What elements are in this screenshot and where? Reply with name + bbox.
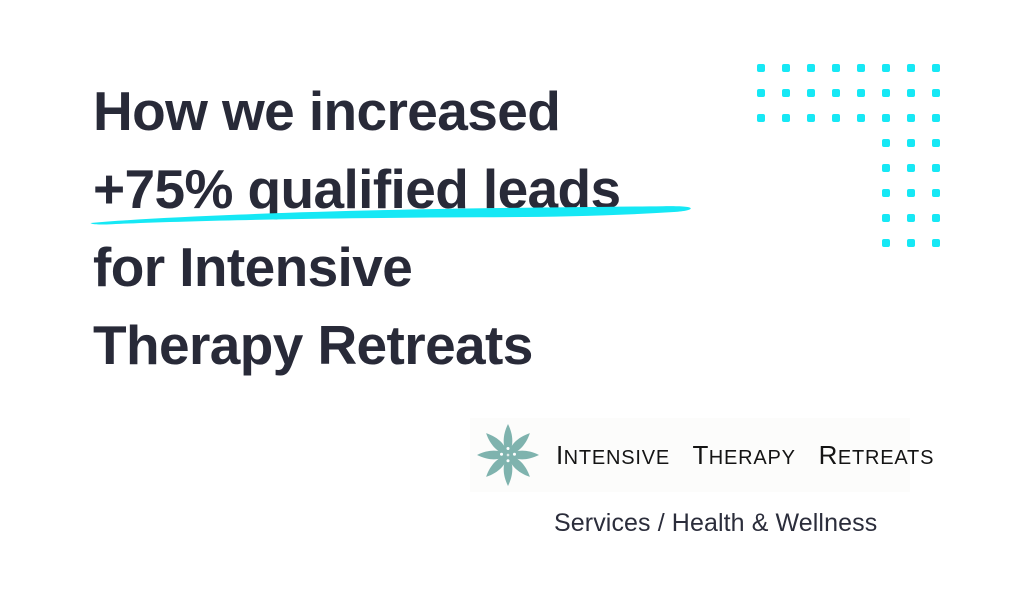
grid-dot <box>807 64 815 72</box>
wordmark-space-1 <box>678 440 686 470</box>
grid-dot <box>882 64 890 72</box>
wordmark-rest-3: ETREATS <box>838 447 934 469</box>
grid-dot <box>932 89 940 97</box>
wordmark-rest-1: NTENSIVE <box>564 447 670 469</box>
grid-dot <box>807 89 815 97</box>
wordmark-word-2: THERAPY <box>692 440 795 470</box>
grid-dot <box>907 214 915 222</box>
grid-dot <box>882 164 890 172</box>
grid-dot <box>757 89 765 97</box>
grid-dot <box>832 89 840 97</box>
grid-dot <box>757 114 765 122</box>
headline-line-4: Therapy Retreats <box>93 306 753 384</box>
headline-line-2: +75% qualified leads <box>93 150 753 228</box>
headline-line-1: How we increased <box>93 72 753 150</box>
grid-dot <box>907 189 915 197</box>
wordmark-cap-2: T <box>692 440 708 470</box>
dot-grid-decoration <box>757 64 947 249</box>
grid-dot <box>907 139 915 147</box>
grid-dot <box>832 114 840 122</box>
grid-dot <box>782 114 790 122</box>
wordmark-rest-2: HERAPY <box>709 447 796 469</box>
grid-dot <box>807 114 815 122</box>
grid-dot <box>857 89 865 97</box>
logo-subtitle: Services / Health & Wellness <box>554 510 910 538</box>
grid-dot <box>882 89 890 97</box>
grid-dot <box>882 239 890 247</box>
grid-dot <box>932 114 940 122</box>
page-title: How we increased +75% qualified leads fo… <box>93 72 753 384</box>
grid-dot <box>932 64 940 72</box>
headline-block: How we increased +75% qualified leads fo… <box>93 72 753 384</box>
grid-dot <box>907 89 915 97</box>
grid-dot <box>882 189 890 197</box>
grid-dot <box>782 89 790 97</box>
grid-dot <box>932 214 940 222</box>
logo-lockup: INTENSIVE THERAPY RETREATS Services / He… <box>470 418 910 538</box>
grid-dot <box>882 139 890 147</box>
grid-dot <box>907 114 915 122</box>
grid-dot <box>907 164 915 172</box>
grid-dot <box>932 239 940 247</box>
grid-dot <box>907 239 915 247</box>
grid-dot <box>932 139 940 147</box>
wordmark-word-3: RETREATS <box>819 440 935 470</box>
logo-row: INTENSIVE THERAPY RETREATS <box>470 418 910 492</box>
headline-line-3: for Intensive <box>93 228 753 306</box>
grid-dot <box>907 64 915 72</box>
wordmark-cap-3: R <box>819 440 838 470</box>
grid-dot <box>757 64 765 72</box>
grid-dot <box>932 189 940 197</box>
grid-dot <box>857 64 865 72</box>
slide-canvas: How we increased +75% qualified leads fo… <box>0 0 1024 600</box>
wordmark-word-1: INTENSIVE <box>556 440 670 470</box>
grid-dot <box>932 164 940 172</box>
grid-dot <box>782 64 790 72</box>
grid-dot <box>832 64 840 72</box>
grid-dot <box>882 214 890 222</box>
flower-logo-icon <box>472 419 544 491</box>
grid-dot <box>882 114 890 122</box>
wordmark-space-2 <box>803 440 811 470</box>
grid-dot <box>857 114 865 122</box>
wordmark-cap-1: I <box>556 440 564 470</box>
logo-wordmark: INTENSIVE THERAPY RETREATS <box>556 442 934 468</box>
